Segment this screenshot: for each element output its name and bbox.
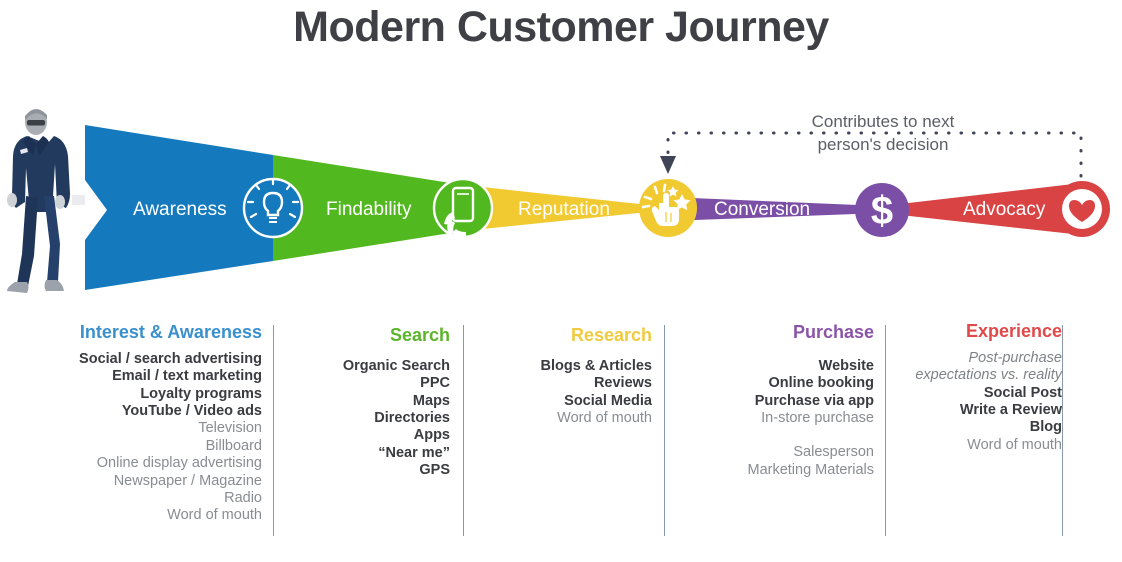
column-items-search: Organic Search PPC Maps Directories Apps… — [282, 358, 450, 480]
svg-text:$: $ — [871, 189, 893, 233]
column-header-research: Research — [472, 326, 652, 346]
list-item: Email / text marketing — [0, 368, 262, 385]
list-item: Post-purchase — [894, 350, 1062, 367]
businessman-walking-figure — [7, 109, 70, 293]
column-divider — [463, 325, 464, 536]
column-search: Search Organic Search PPC Maps Directori… — [282, 322, 450, 480]
list-item: Social / search advertising — [0, 351, 262, 368]
list-item: Online display advertising — [0, 455, 262, 472]
list-item: Marketing Materials — [672, 462, 874, 479]
list-item: Word of mouth — [472, 410, 652, 427]
list-item: In-store purchase — [672, 410, 874, 427]
column-header-interest-awareness: Interest & Awareness — [0, 323, 262, 343]
list-item: YouTube / Video ads — [0, 403, 262, 420]
list-item: Radio — [0, 490, 262, 507]
annotation-line-1: Contributes to next — [780, 111, 986, 134]
list-item: Social Post — [894, 385, 1062, 402]
column-divider — [664, 325, 665, 536]
column-header-purchase: Purchase — [672, 323, 874, 343]
stage-label-conversion: Conversion — [714, 200, 810, 219]
touchpoint-columns: Interest & Awareness Social / search adv… — [0, 322, 1122, 562]
list-item: Blog — [894, 419, 1062, 436]
column-purchase: Purchase Website Online booking Purchase… — [672, 322, 874, 479]
feedback-loop-annotation: Contributes to next person's decision — [780, 111, 986, 157]
list-item: Word of mouth — [0, 507, 262, 524]
column-items-purchase: Website Online booking Purchase via app … — [672, 358, 874, 479]
annotation-line-2: person's decision — [780, 134, 986, 157]
list-item: Purchase via app — [672, 393, 874, 410]
column-experience: Experience Post-purchase expectations vs… — [894, 322, 1062, 454]
list-item: Billboard — [0, 438, 262, 455]
heart-icon — [1054, 181, 1110, 237]
click-stars-icon — [639, 179, 697, 237]
list-item: Reviews — [472, 375, 652, 392]
list-item: Loyalty programs — [0, 386, 262, 403]
column-header-experience: Experience — [894, 322, 1062, 342]
infographic-canvas: Modern Customer Journey — [0, 0, 1122, 562]
list-item: Salesperson — [672, 444, 874, 461]
list-item: Blogs & Articles — [472, 358, 652, 375]
list-item: Television — [0, 420, 262, 437]
list-item: Organic Search — [282, 358, 450, 375]
list-item: Word of mouth — [894, 437, 1062, 454]
list-item: Write a Review — [894, 402, 1062, 419]
list-item: GPS — [282, 462, 450, 479]
stage-label-advocacy: Advocacy — [963, 200, 1045, 219]
column-divider — [273, 325, 274, 536]
list-item: Website — [672, 358, 874, 375]
page-title: Modern Customer Journey — [0, 3, 1122, 52]
list-item: Newspaper / Magazine — [0, 473, 262, 490]
mobile-search-icon — [434, 179, 492, 238]
column-interest-awareness: Interest & Awareness Social / search adv… — [0, 322, 262, 525]
column-divider — [1062, 325, 1063, 536]
dollar-icon: $ — [855, 183, 909, 237]
list-item: PPC — [282, 375, 450, 392]
column-divider — [885, 325, 886, 536]
stage-label-findability: Findability — [326, 200, 412, 219]
list-item: Directories — [282, 410, 450, 427]
column-header-search: Search — [282, 326, 450, 346]
list-item: expectations vs. reality — [894, 367, 1062, 384]
list-item: Social Media — [472, 393, 652, 410]
loop-arrowhead-icon — [660, 156, 676, 174]
list-item: Online booking — [672, 375, 874, 392]
column-research: Research Blogs & Articles Reviews Social… — [472, 322, 652, 427]
list-spacer — [672, 427, 874, 444]
column-items-experience: Post-purchase expectations vs. reality S… — [894, 350, 1062, 454]
stage-label-reputation: Reputation — [518, 200, 610, 219]
list-item: “Near me” — [282, 445, 450, 462]
column-items-research: Blogs & Articles Reviews Social Media Wo… — [472, 358, 652, 428]
lightbulb-icon — [244, 179, 302, 237]
column-items-interest-awareness: Social / search advertising Email / text… — [0, 351, 262, 525]
stage-label-awareness: Awareness — [133, 200, 227, 219]
list-item: Maps — [282, 393, 450, 410]
list-item: Apps — [282, 427, 450, 444]
